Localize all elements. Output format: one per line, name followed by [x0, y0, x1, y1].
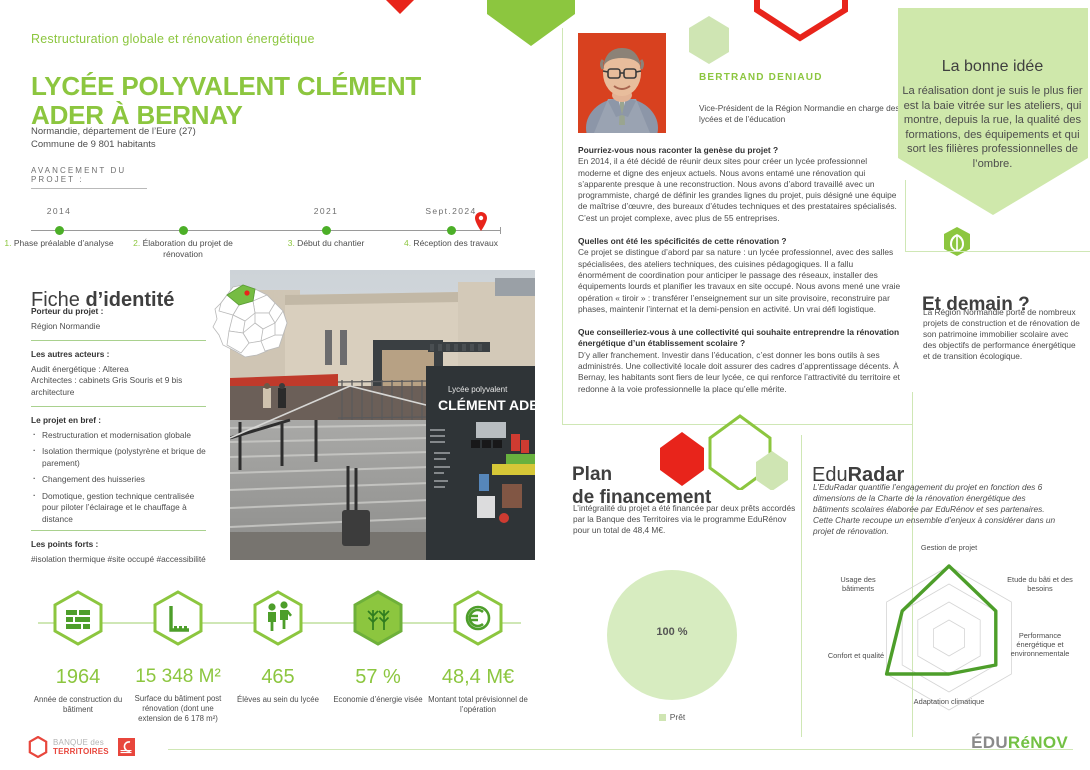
interviewee-portrait [578, 33, 666, 133]
kpi-item: 465Élèves au sein du lycée [228, 585, 328, 705]
kpi-strip: 1964Année de construction du bâtiment15 … [28, 585, 528, 750]
acteurs-label: Les autres acteurs : [31, 349, 206, 361]
radar-grid-ring [887, 566, 1012, 710]
map-pin-icon [475, 212, 487, 231]
bt-line-2: TERRITOIRES [53, 747, 109, 756]
divider [801, 435, 802, 737]
list-item: Restructuration et modernisation globale [42, 430, 206, 442]
porteur-label: Porteur du projet : [31, 306, 206, 318]
interviewee-role: Vice-Président de la Région Normandie en… [699, 103, 904, 125]
eduradar-chart: Gestion de projetEtude du bâti et des be… [818, 545, 1080, 735]
divider [905, 251, 1090, 252]
banque-des-territoires-logo: BANQUE des TERRITOIRES [28, 736, 135, 758]
list-item: Changement des huisseries [42, 474, 206, 486]
interview-block: Que conseilleriez-vous à une collectivit… [578, 327, 902, 395]
location-info: Normandie, département de l’Eure (27) Co… [31, 125, 331, 151]
plan-body: L’intégralité du projet a été financée p… [573, 503, 798, 536]
kpi-caption: Année de construction du bâtiment [28, 695, 128, 715]
interview-block: Quelles ont été les spécificités de cett… [578, 236, 902, 315]
radar-grid-ring [918, 602, 980, 674]
list-item: Isolation thermique (polystyrène et briq… [42, 446, 206, 469]
france-map [205, 265, 310, 365]
radar-grid-ring [902, 584, 996, 692]
kpi-caption: Montant total prévisionnel de l’opératio… [428, 695, 528, 715]
interview-answer: D’y aller franchement. Investir dans l’é… [578, 350, 900, 394]
timeline-caption: 2. Élaboration du projet de rénovation [123, 238, 243, 260]
kpi-item: 1964Année de construction du bâtiment [28, 585, 128, 715]
radar-grid-ring [933, 620, 964, 656]
porteur-value: Région Normandie [31, 321, 206, 333]
kpi-caption: Surface du bâtiment post rénovation (don… [128, 694, 228, 724]
divider [562, 424, 912, 425]
location-line-2: Commune de 9 801 habitants [31, 138, 331, 151]
footer-left: BANQUE des TERRITOIRES [28, 736, 358, 762]
financing-pie-chart: 100 % [607, 570, 737, 700]
radar-axis-label: Confort et qualité [818, 651, 894, 660]
project-timeline: 20141. Phase préalable d’analyse2. Élabo… [31, 190, 501, 250]
eco-leaf-icon [940, 225, 974, 259]
divider [562, 28, 563, 425]
acteurs-value: Audit énergétique : Alterea Architectes … [31, 364, 206, 399]
forts-value: #isolation thermique #site occupé #acces… [31, 554, 206, 566]
interview-answer: Ce projet se distingue d’abord par sa na… [578, 247, 900, 313]
bref-label: Le projet en bref : [31, 415, 206, 427]
footer-divider [168, 749, 1073, 750]
timeline-dot[interactable] [55, 226, 64, 235]
radar-axis-label: Performance énergétique et environnement… [1000, 631, 1080, 658]
surface-area-icon [151, 590, 205, 652]
timeline-year: Sept.2024 [425, 206, 476, 216]
radar-axis-label: Gestion de projet [899, 543, 999, 552]
radar-axis-label: Adaptation climatique [909, 697, 989, 706]
caisse-depots-logo [118, 738, 135, 756]
interview-block: Pourriez-vous nous raconter la genèse du… [578, 145, 902, 224]
sign-small-text: Lycée polyvalent [448, 385, 508, 394]
kpi-caption: Élèves au sein du lycée [228, 695, 328, 705]
timeline-axis [31, 230, 501, 231]
idea-body: La réalisation dont je suis le plus fier… [900, 84, 1085, 171]
timeline-year: 2014 [47, 206, 72, 216]
trees-icon [351, 590, 405, 652]
students-icon [251, 590, 305, 652]
interviewee-name: BERTRAND DENIAUD [699, 71, 823, 84]
page-title: LYCÉE POLYVALENT CLÉMENT ADER À BERNAY [31, 72, 471, 130]
fiche-identite-panel: Porteur du projet : Région Normandie Les… [31, 306, 206, 565]
kpi-value: 48,4 M€ [428, 666, 528, 689]
plan-title: Plan de financement [572, 463, 711, 509]
timeline-caption: 4. Réception des travaux [391, 238, 511, 249]
project-brief-list: Restructuration et modernisation globale… [31, 430, 206, 526]
timeline-dot[interactable] [322, 226, 331, 235]
timeline-caption: 1. Phase préalable d’analyse [0, 238, 119, 249]
legend-swatch-pret [659, 714, 666, 721]
timeline-dot[interactable] [447, 226, 456, 235]
interview-question: Que conseilleriez-vous à une collectivit… [578, 327, 902, 350]
kpi-item: 48,4 M€Montant total prévisionnel de l’o… [428, 585, 528, 715]
divider [31, 340, 206, 341]
kpi-value: 1964 [28, 666, 128, 689]
interview-text: Pourriez-vous nous raconter la genèse du… [578, 145, 902, 407]
interview-answer: En 2014, il a été décidé de réunir deux … [578, 156, 897, 222]
kpi-item: 57 %Economie d’énergie visée [328, 585, 428, 705]
kpi-value: 465 [228, 666, 328, 689]
radar-axis-label: Usage des bâtiments [824, 575, 892, 593]
hexagon-icon [28, 736, 48, 758]
pie-slice-label: 100 % [607, 626, 737, 638]
kpi-item: 15 348 M²Surface du bâtiment post rénova… [128, 585, 228, 724]
legend-label-pret: Prêt [670, 712, 686, 722]
radar-axis-label: Etude du bâti et des besoins [1001, 575, 1079, 593]
interview-question: Pourriez-vous nous raconter la genèse du… [578, 145, 902, 156]
location-line-1: Normandie, département de l’Eure (27) [31, 125, 331, 138]
divider [31, 530, 206, 531]
interview-question: Quelles ont été les spécificités de cett… [578, 236, 902, 247]
euro-icon [451, 590, 505, 652]
forts-label: Les points forts : [31, 539, 206, 551]
kpi-value: 57 % [328, 666, 428, 689]
list-item: Domotique, gestion technique centralisée… [42, 491, 206, 526]
kpi-value: 15 348 M² [128, 666, 228, 688]
kpi-caption: Economie d’énergie visée [328, 695, 428, 705]
building-blocks-icon [51, 590, 105, 652]
bt-line-1: BANQUE des [53, 738, 109, 747]
idea-title: La bonne idée [900, 58, 1085, 76]
timeline-label: AVANCEMENT DU PROJET : [31, 166, 147, 189]
page-kicker: Restructuration globale et rénovation én… [31, 32, 461, 46]
eduradar-body: L’EduRadar quantifie l’engagement du pro… [813, 482, 1061, 537]
timeline-dot[interactable] [179, 226, 188, 235]
timeline-year: 2021 [314, 206, 339, 216]
idea-panel: La bonne idée La réalisation dont je sui… [900, 58, 1085, 171]
divider [31, 406, 206, 407]
divider [905, 180, 906, 252]
plan-title-line1: Plan [572, 463, 711, 486]
pie-legend: Prêt [607, 712, 737, 722]
sign-big-text: CLÉMENT ADER [438, 397, 535, 413]
timeline-caption: 3. Début du chantier [266, 238, 386, 249]
demain-body: La Région Normandie porte de nombreux pr… [923, 307, 1083, 362]
